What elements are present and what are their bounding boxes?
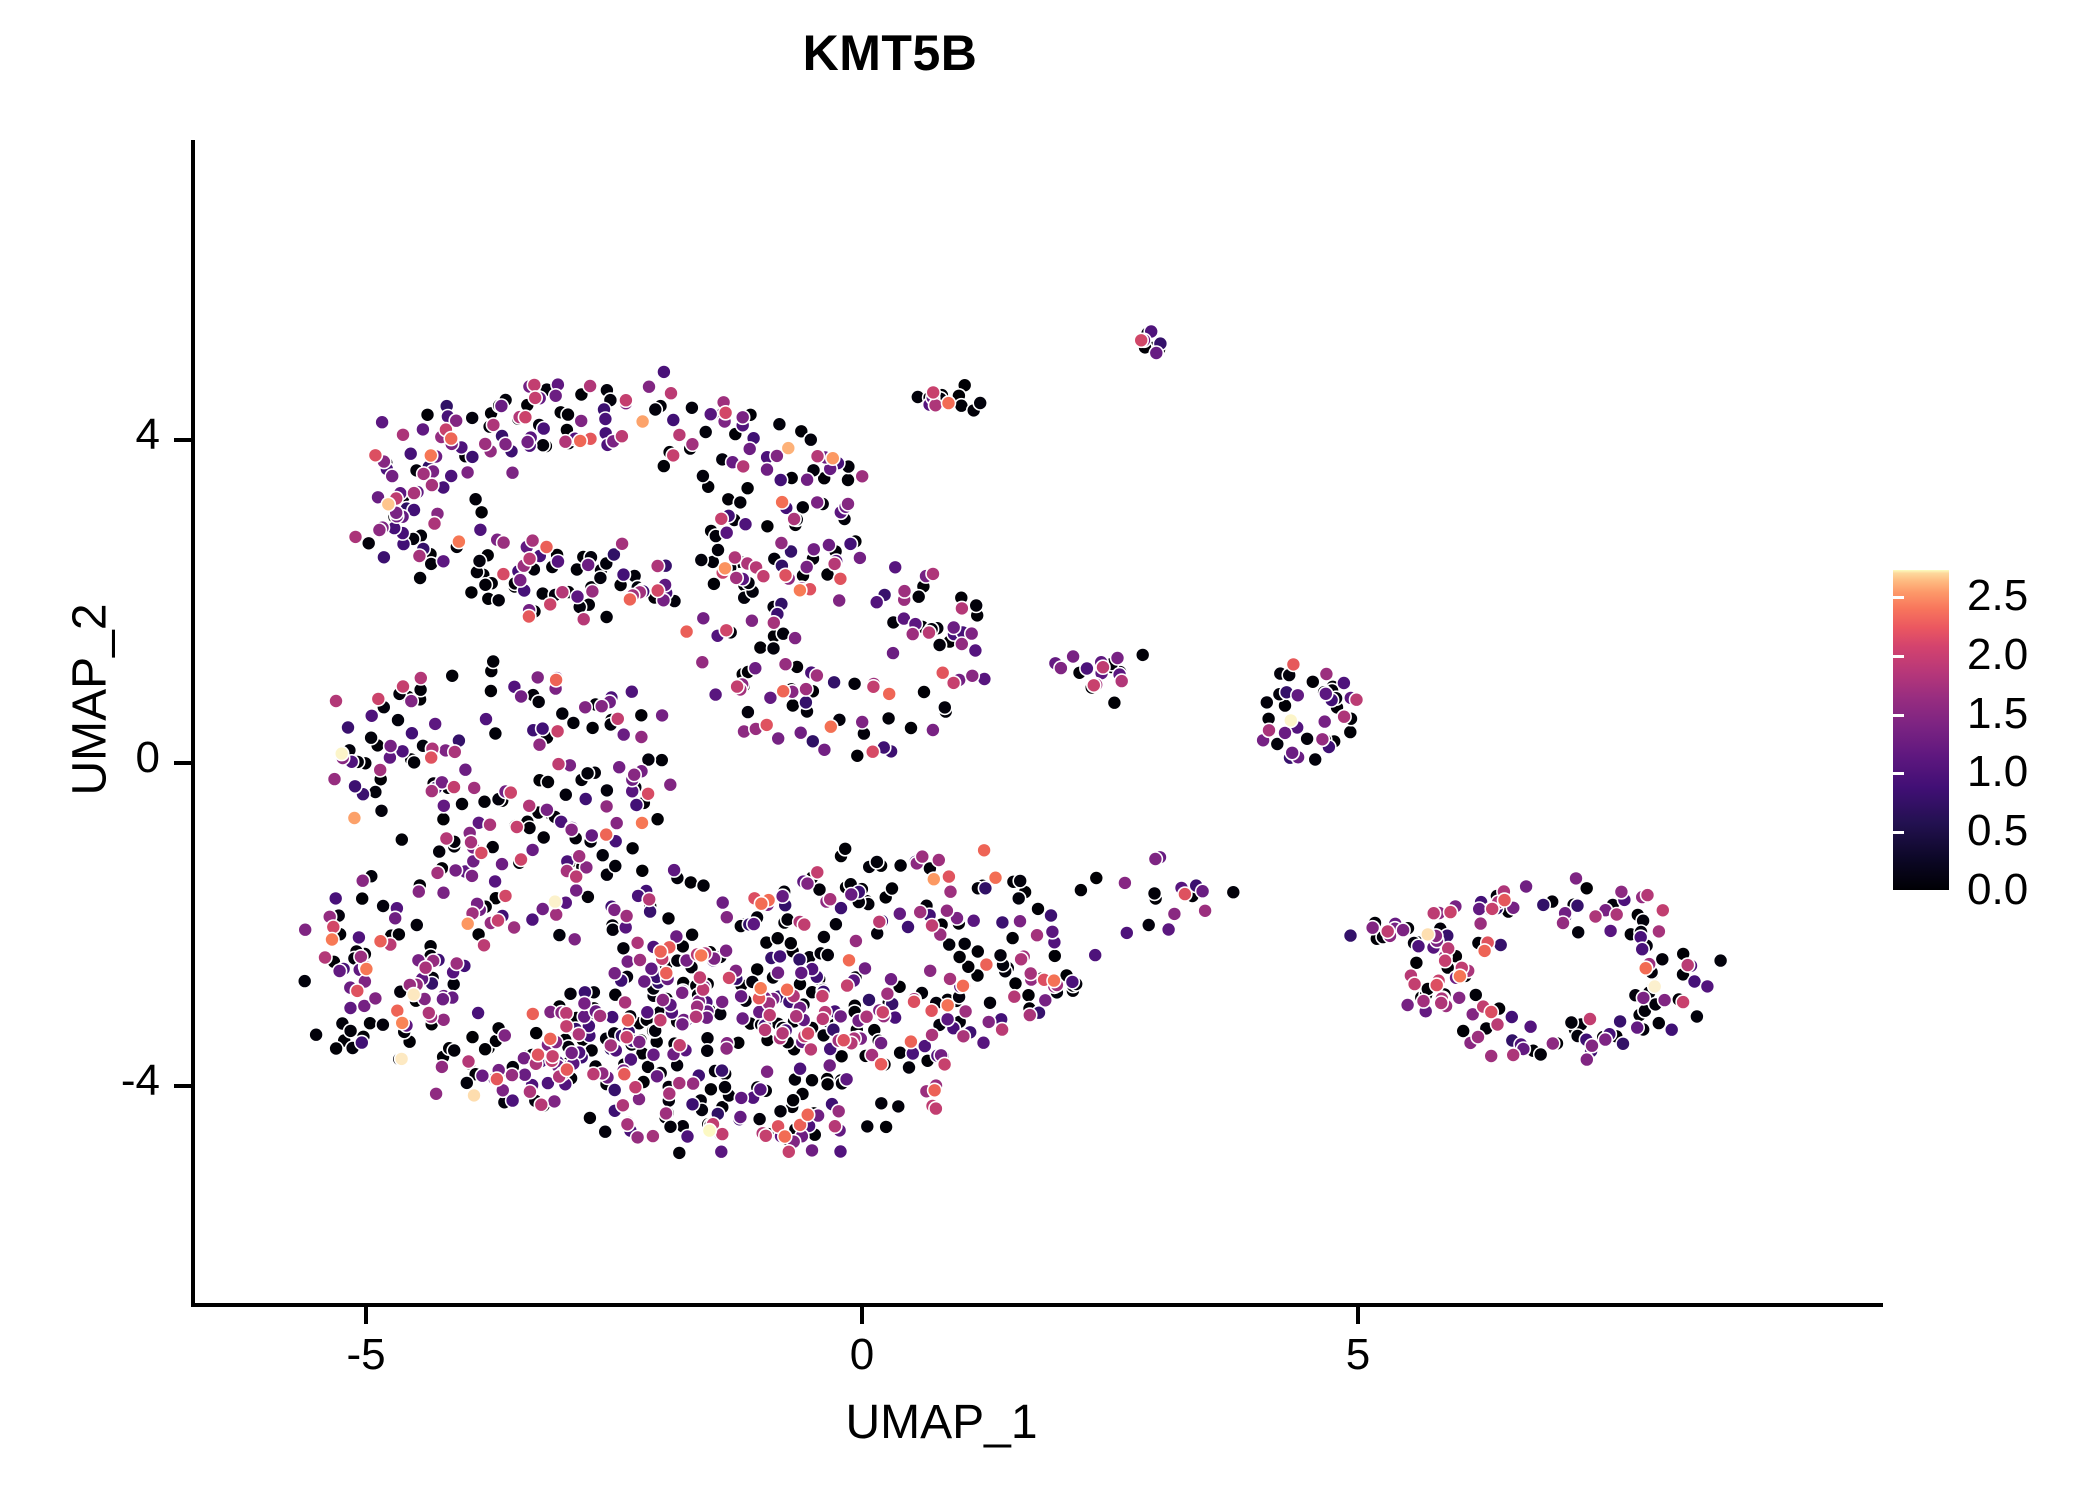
scatter-point [651,559,665,573]
scatter-point [754,981,768,995]
scatter-point [793,583,807,597]
y-axis-title: UMAP_2 [63,300,118,1100]
scatter-point [543,1032,557,1046]
scatter-point [810,865,824,879]
scatter-point [807,542,821,556]
scatter-point [428,717,442,731]
scatter-point [452,535,466,549]
scatter-point [505,1068,519,1082]
scatter-point [458,763,472,777]
scatter-point [815,989,829,1003]
scatter-point [1074,883,1088,897]
scatter-point [784,936,798,950]
scatter-point [462,1055,476,1069]
scatter-point [368,785,382,799]
colorbar-tick-label: 0.0 [1967,865,2028,915]
scatter-point [412,549,426,563]
scatter-point [969,599,983,613]
scatter-point [686,1077,700,1091]
scatter-point [774,536,788,550]
scatter-point [478,578,492,592]
scatter-point [1571,925,1585,939]
scatter-point [513,573,527,587]
scatter-point [973,396,987,410]
x-axis-title: UMAP_1 [0,1395,1883,1450]
y-tick-mark [174,761,191,765]
scatter-point [573,434,587,448]
scatter-point [1485,902,1499,916]
scatter-point [715,995,729,1009]
scatter-point [811,449,825,463]
scatter-point [943,972,957,986]
colorbar-tick-mark [2072,890,2083,893]
scatter-point [958,937,972,951]
scatter-point [659,966,673,980]
scatter-point [799,695,813,709]
scatter-point [1285,746,1299,760]
scatter-point [507,921,521,935]
scatter-point [355,892,369,906]
scatter-point [396,680,410,694]
scatter-point [479,712,493,726]
scatter-point [376,1018,390,1032]
scatter-point [941,998,955,1012]
scatter-point [774,1104,788,1118]
scatter-point [729,571,743,585]
scatter-point [685,928,699,942]
scatter-point [640,1005,654,1019]
scatter-point [1409,956,1423,970]
scatter-point [1656,903,1670,917]
scatter-point [598,412,612,426]
scatter-point [1045,925,1059,939]
scatter-point [642,380,656,394]
scatter-point [425,784,439,798]
scatter-point [940,904,954,918]
scatter-point [1408,977,1422,991]
scatter-point [1471,1030,1485,1044]
scatter-point [1534,1048,1548,1062]
scatter-point [722,971,736,985]
scatter-point [450,957,464,971]
scatter-point [561,408,575,422]
scatter-point [1226,885,1240,899]
scatter-point [585,584,599,598]
scatter-point [736,410,750,424]
scatter-point [422,1006,436,1020]
scatter-point [1665,1023,1679,1037]
scatter-point [488,727,502,741]
scatter-point [1047,974,1061,988]
scatter-point [874,1036,888,1050]
scatter-point [1505,1010,1519,1024]
scatter-point [799,682,813,696]
scatter-point [718,1080,732,1094]
scatter-point [915,850,929,864]
scatter-point [870,595,884,609]
scatter-point [901,920,915,934]
scatter-point [840,1072,854,1086]
scatter-point [478,795,492,809]
scatter-point [365,709,379,723]
scatter-point [436,554,450,568]
scatter-point [1616,1037,1630,1051]
scatter-point [510,820,524,834]
scatter-point [549,389,563,403]
scatter-point [828,1119,842,1133]
scatter-point [577,612,591,626]
scatter-point [569,883,583,897]
scatter-point [581,558,595,572]
scatter-point [1096,660,1110,674]
scatter-point [384,739,398,753]
scatter-point [928,1083,942,1097]
scatter-point [1031,902,1045,916]
scatter-point [488,874,502,888]
scatter-point [1178,887,1192,901]
scatter-point [771,732,785,746]
scatter-point [428,517,442,531]
scatter-point [1366,921,1380,935]
scatter-point [754,897,768,911]
scatter-point [526,1007,540,1021]
scatter-point [745,614,759,628]
scatter-point [673,1038,687,1052]
scatter-point [776,1026,790,1040]
scatter-point [832,1104,846,1118]
scatter-point [407,988,421,1002]
scatter-point [794,726,808,740]
scatter-point [1260,695,1274,709]
scatter-point [956,979,970,993]
scatter-point [1569,871,1583,885]
scatter-point [532,695,546,709]
scatter-point [325,933,339,947]
scatter-point [634,708,648,722]
scatter-point [1613,1014,1627,1028]
scatter-point [504,786,518,800]
scatter-point [445,669,459,683]
scatter-point [615,429,629,443]
scatter-point [741,481,755,495]
scatter-point [1054,661,1068,675]
scatter-point [715,1127,729,1141]
scatter-point [880,987,894,1001]
scatter-point [467,781,481,795]
scatter-point [1564,1016,1578,1030]
scatter-point [893,1046,907,1060]
scatter-point [684,875,698,889]
scatter-point [475,1069,489,1083]
scatter-point [956,1029,970,1043]
scatter-point [760,1065,774,1079]
scatter-point [1023,1008,1037,1022]
scatter-point [494,399,508,413]
scatter-point [413,571,427,585]
scatter-point [767,641,781,655]
scatter-point [631,936,645,950]
scatter-point [436,992,450,1006]
colorbar-tick-label: 0.5 [1967,806,2028,856]
scatter-point [355,1036,369,1050]
scatter-point [1291,688,1305,702]
scatter-point [1006,931,1020,945]
scatter-point [1589,910,1603,924]
scatter-point [781,441,795,455]
scatter-point [894,859,908,873]
scatter-point [651,812,665,826]
scatter-point [407,755,421,769]
scatter-point [635,816,649,830]
scatter-point [944,885,958,899]
scatter-point [840,979,854,993]
scatter-point [583,1111,597,1125]
scatter-point [344,1001,358,1015]
scatter-point [617,568,631,582]
scatter-point [461,917,475,931]
scatter-point [681,1130,695,1144]
scatter-point [733,1110,747,1124]
scatter-point [771,966,785,980]
scatter-point [416,422,430,436]
scatter-point [888,560,902,574]
scatter-point [525,913,539,927]
scatter-point [1610,908,1624,922]
scatter-point [733,495,747,509]
scatter-point [537,831,551,845]
scatter-point [696,469,710,483]
scatter-point [608,859,622,873]
scatter-point [1337,676,1351,690]
scatter-point [780,983,794,997]
scatter-point [1107,696,1121,710]
scatter-point [773,949,787,963]
scatter-point [371,692,385,706]
scatter-point [518,410,532,424]
scatter-point [793,1062,807,1076]
scatter-point [431,866,445,880]
scatter-point [1585,1039,1599,1053]
scatter-point [381,497,395,511]
scatter-point [1148,886,1162,900]
scatter-point [941,1012,955,1026]
scatter-point [1452,991,1466,1005]
colorbar-tick-label: 2.0 [1967,630,2028,680]
scatter-point [548,895,562,909]
scatter-point [824,720,838,734]
scatter-point [1690,1010,1704,1024]
scatter-point [850,749,864,763]
scatter-point [942,870,956,884]
scatter-point [432,845,446,859]
scatter-point [439,832,453,846]
scatter-point [541,775,555,789]
scatter-point [760,463,774,477]
scatter-point [844,537,858,551]
scatter-point [627,768,641,782]
scatter-point [435,1060,449,1074]
scatter-point [425,478,439,492]
scatter-point [620,1030,634,1044]
scatter-point [917,685,931,699]
scatter-point [611,712,625,726]
scatter-point [967,914,981,928]
scatter-point [1284,713,1298,727]
scatter-point [748,661,762,675]
scatter-point [1012,891,1026,905]
scatter-point [536,722,550,736]
scatter-point [817,930,831,944]
scatter-point [599,828,613,842]
scatter-point [1652,1016,1666,1030]
scatter-point [1444,905,1458,919]
scatter-point [672,1146,686,1160]
scatter-point [720,1042,734,1056]
scatter-point [855,469,869,483]
scatter-point [718,561,732,575]
scatter-point [800,473,814,487]
scatter-point [805,1143,819,1157]
x-axis-line [191,1303,1883,1307]
scatter-point [344,1024,358,1038]
scatter-point [756,569,770,583]
scatter-point [395,833,409,847]
scatter-point [882,687,896,701]
scatter-point [734,1091,748,1105]
scatter-point [559,1006,573,1020]
scatter-point [1648,980,1662,994]
scatter-point [1524,1020,1538,1034]
scatter-point [816,1012,830,1026]
scatter-point [1655,952,1669,966]
scatter-point [741,705,755,719]
scatter-point [1438,954,1452,968]
colorbar-gradient [1893,570,1949,890]
scatter-point [898,584,912,598]
scatter-point [633,953,647,967]
x-tick-mark [364,1307,368,1324]
scatter-point [405,726,419,740]
scatter-point [675,986,689,1000]
scatter-point [1681,958,1695,972]
scatter-point [298,923,312,937]
scatter-point [447,1044,461,1058]
scatter-point [995,1023,1009,1037]
scatter-point [776,684,790,698]
scatter-point [1714,954,1728,968]
scatter-point [893,907,907,921]
scatter-point [577,996,591,1010]
scatter-point [395,1052,409,1066]
scatter-point [569,870,583,884]
scatter-point [610,816,624,830]
scatter-point [447,780,461,794]
scatter-point [775,495,789,509]
scatter-point [543,597,557,611]
scatter-point [1434,996,1448,1010]
scatter-point [848,677,862,691]
scatter-point [333,964,347,978]
scatter-point [656,993,670,1007]
scatter-point [793,953,807,967]
scatter-point [822,538,836,552]
scatter-point [572,1027,586,1041]
scatter-point [623,592,637,606]
scatter-point [662,1087,676,1101]
scatter-point [1066,650,1080,664]
scatter-point [608,966,622,980]
scatter-point [1142,918,1156,932]
colorbar-tick-mark [1893,890,1904,893]
scatter-point [414,671,428,685]
scatter-point [506,466,520,480]
scatter-point [838,842,852,856]
scatter-point [719,623,733,637]
colorbar-tick-mark [1893,772,1904,775]
scatter-point [739,517,753,531]
scatter-point [1700,979,1714,993]
scatter-point [521,435,535,449]
scatter-point [348,779,362,793]
x-tick-mark [1356,1307,1360,1324]
scatter-point [720,910,734,924]
scatter-point [659,1106,673,1120]
scatter-point [375,804,389,818]
scatter-point [704,407,718,421]
scatter-point [927,872,941,886]
scatter-point [350,984,364,998]
scatter-point [1013,914,1027,928]
scatter-point [788,631,802,645]
colorbar-tick-mark [2072,655,2083,658]
scatter-point [552,928,566,942]
scatter-point [1658,993,1672,1007]
scatter-point [1319,667,1333,681]
scatter-point [709,688,723,702]
scatter-point [465,411,479,425]
scatter-point [866,680,880,694]
scatter-point [801,1027,815,1041]
scatter-point [662,911,676,925]
scatter-point [797,918,811,932]
scatter-point [1381,924,1395,938]
scatter-point [335,747,349,761]
scatter-point [694,553,708,567]
scatter-point [1546,1037,1560,1051]
colorbar-tick-mark [1893,714,1904,717]
scatter-point [1087,678,1101,692]
scatter-point [702,1124,716,1138]
scatter-point [664,1120,678,1134]
scatter-point [536,438,550,452]
scatter-point [486,418,500,432]
scatter-point [1162,923,1176,937]
scatter-point [971,945,985,959]
scatter-point [407,486,421,500]
scatter-point [1639,961,1653,975]
scatter-point [356,874,370,888]
scatter-point [421,408,435,422]
scatter-point [666,448,680,462]
scatter-point [1498,893,1512,907]
scatter-point [779,657,793,671]
scatter-point [558,435,572,449]
scatter-point [1472,902,1486,916]
scatter-point [1167,907,1181,921]
scatter-point [872,915,886,929]
scatter-point [653,1013,667,1027]
scatter-point [1556,916,1570,930]
